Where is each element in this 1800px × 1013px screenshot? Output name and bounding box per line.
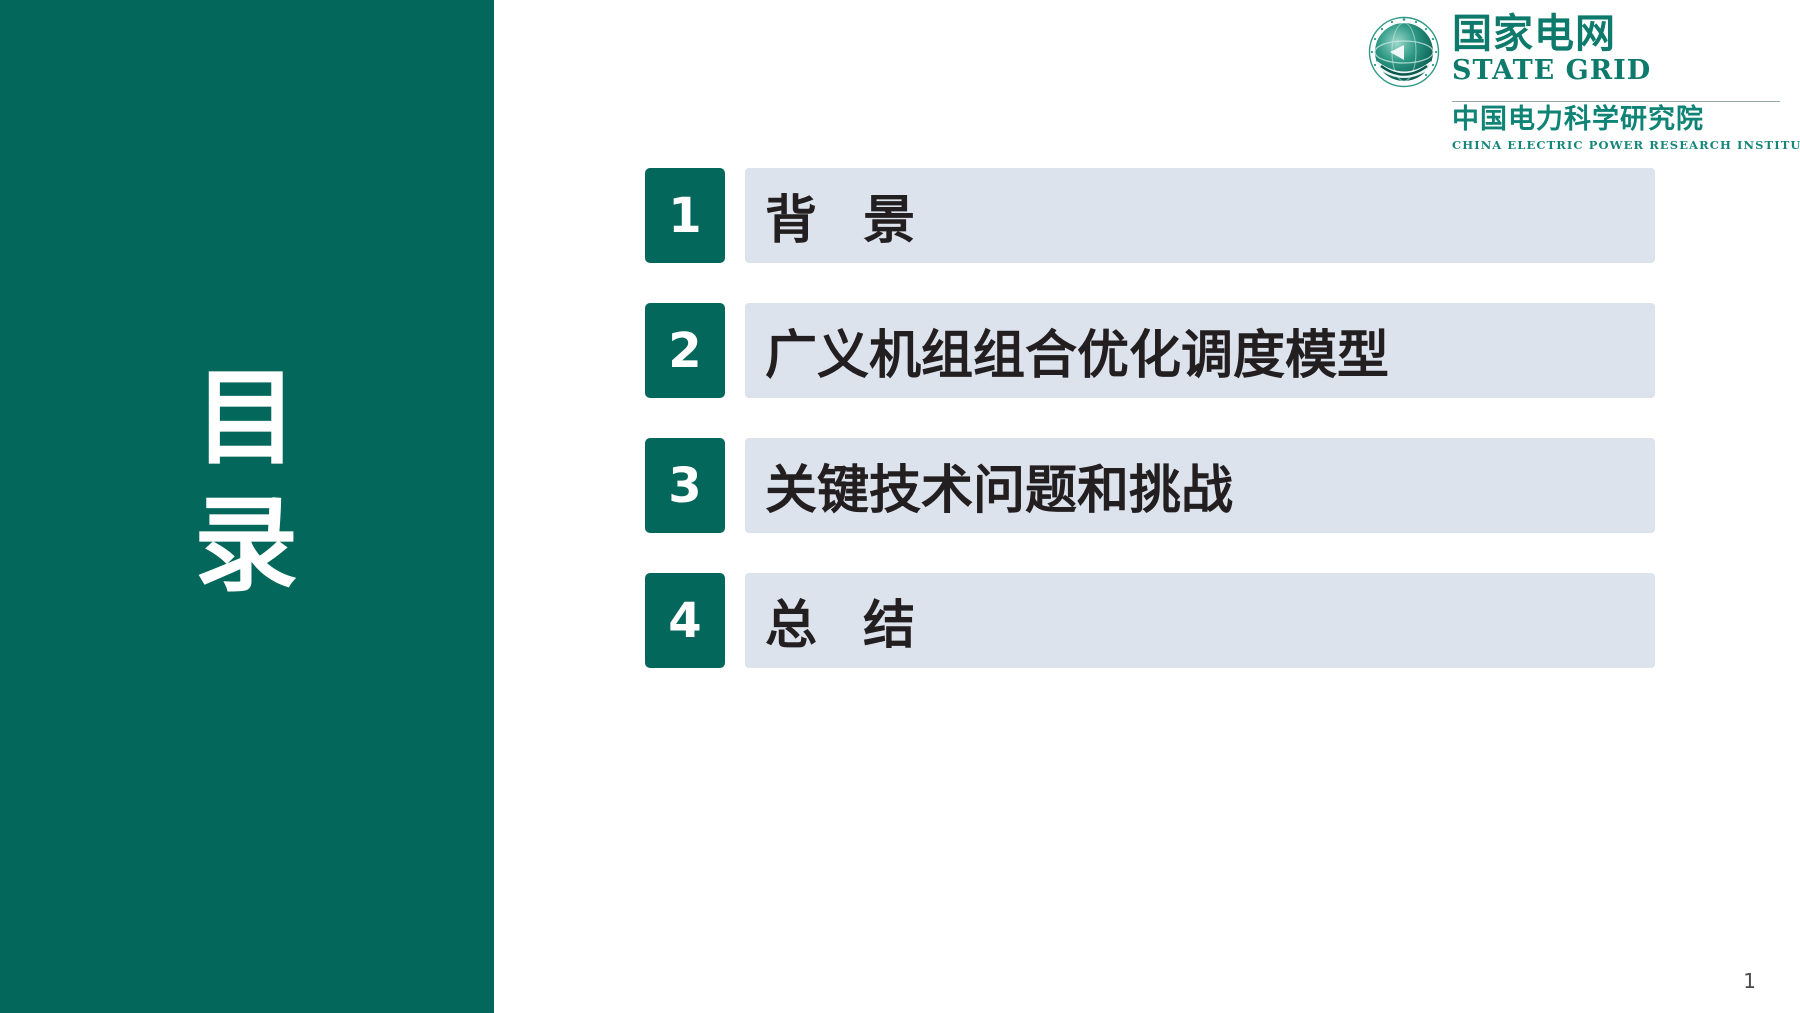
page-number: 1	[1743, 969, 1756, 993]
page-title: 目 录	[0, 355, 494, 609]
brand-text-block: 国家电网 STATE GRID	[1452, 14, 1651, 85]
logo-divider	[1452, 101, 1780, 102]
sidebar-panel: 目 录	[0, 0, 494, 1013]
logo-lockup: 国家电网 STATE GRID 中国电力科学研究院 CHINA ELECTRIC…	[1368, 10, 1780, 158]
agenda-label-1: 背 景	[765, 168, 929, 263]
page-title-char-2: 录	[0, 482, 494, 609]
agenda-label-3: 关键技术问题和挑战	[765, 438, 1233, 533]
agenda-number-badge-4: 4	[645, 573, 725, 668]
agenda-list: 1 背 景 2 广义机组组合优化调度模型 3 关键技术问题和挑战 4 总 结	[645, 168, 1655, 708]
agenda-item-1[interactable]: 1 背 景	[645, 168, 1655, 263]
agenda-label-4: 总 结	[765, 573, 929, 668]
agenda-number-badge-1: 1	[645, 168, 725, 263]
agenda-item-2[interactable]: 2 广义机组组合优化调度模型	[645, 303, 1655, 398]
agenda-item-4[interactable]: 4 总 结	[645, 573, 1655, 668]
slide-canvas: 目 录	[0, 0, 1800, 1013]
agenda-number-badge-2: 2	[645, 303, 725, 398]
page-title-char-1: 目	[0, 355, 494, 482]
institute-name-en: CHINA ELECTRIC POWER RESEARCH INSTITUTE	[1452, 138, 1800, 152]
agenda-number-badge-3: 3	[645, 438, 725, 533]
state-grid-globe-emblem-icon	[1368, 16, 1440, 88]
agenda-item-3[interactable]: 3 关键技术问题和挑战	[645, 438, 1655, 533]
agenda-label-2: 广义机组组合优化调度模型	[765, 303, 1389, 398]
institute-name-cn: 中国电力科学研究院	[1452, 106, 1704, 134]
brand-name-en: STATE GRID	[1452, 57, 1651, 85]
brand-name-cn: 国家电网	[1452, 14, 1651, 55]
